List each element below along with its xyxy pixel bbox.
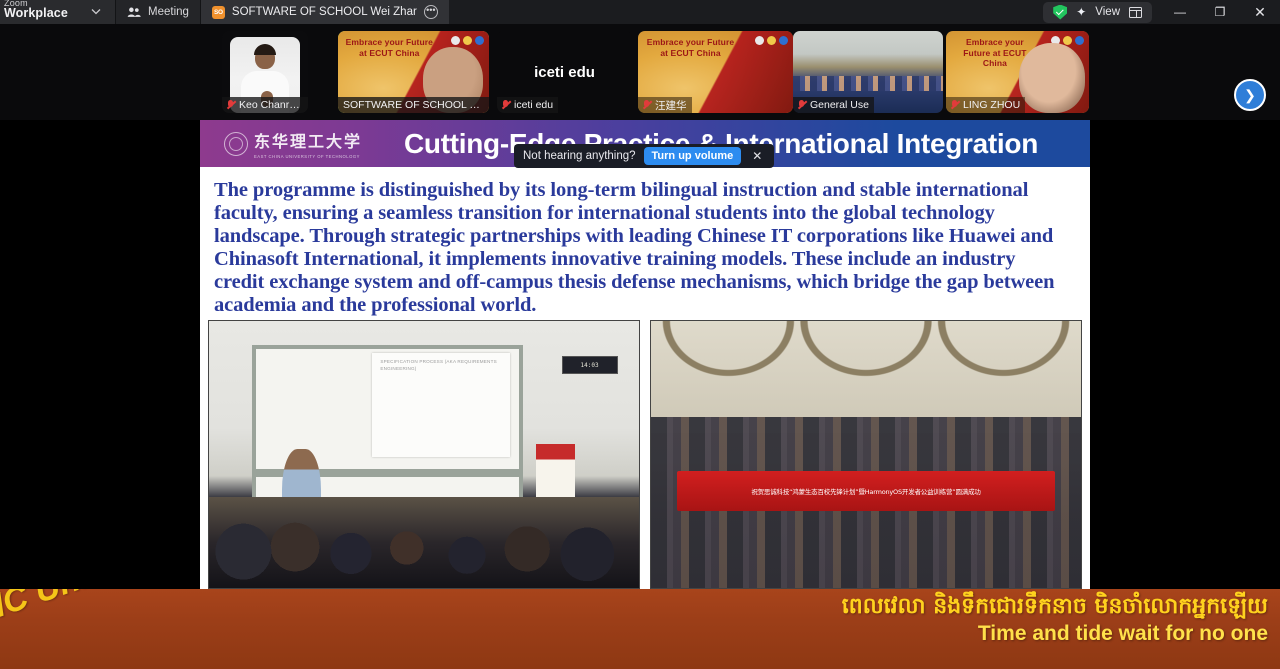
participant-name: iceti edu bbox=[514, 99, 553, 111]
tab-meeting-label: Meeting bbox=[148, 6, 189, 18]
chevron-right-icon[interactable]: ❯ bbox=[1234, 79, 1266, 111]
ecut-logos bbox=[755, 36, 788, 45]
shield-check-icon bbox=[1053, 5, 1067, 20]
window-controls-group: ✦ View — ❐ ✕ bbox=[1043, 0, 1280, 24]
audio-toast: Not hearing anything? Turn up volume ✕ bbox=[514, 144, 774, 168]
bottom-banner: IIC University ពេលវេលា និងទឹកជោរទឹកនាច ម… bbox=[0, 589, 1280, 669]
ecut-banner-text: Embrace your Future at ECUT China bbox=[644, 37, 737, 58]
participant-thumbnail[interactable]: General Use bbox=[793, 31, 943, 113]
mic-muted-icon bbox=[951, 100, 959, 111]
participant-thumbnail[interactable]: iceti edu iceti edu bbox=[497, 31, 632, 113]
participant-name-bar: General Use bbox=[793, 97, 874, 113]
participant-thumbnail[interactable]: Keo Chanrathanak bbox=[222, 31, 308, 113]
presentation-slide: 东华理工大学 EAST CHINA UNIVERSITY OF TECHNOLO… bbox=[200, 120, 1090, 589]
workspace-switcher[interactable]: Zoom Workplace bbox=[0, 0, 115, 24]
turn-up-volume-button[interactable]: Turn up volume bbox=[644, 147, 742, 165]
participant-thumbnail[interactable]: Embrace your Future at ECUT China LING Z… bbox=[946, 31, 1089, 113]
english-quote: Time and tide wait for no one bbox=[978, 622, 1268, 646]
mic-muted-icon bbox=[798, 100, 806, 111]
tab-software-of-school[interactable]: SO SOFTWARE OF SCHOOL Wei Zhar ••• bbox=[201, 0, 449, 24]
maximize-button[interactable]: ❐ bbox=[1200, 0, 1240, 24]
participant-name-bar: SOFTWARE OF SCHOOL Wei... bbox=[338, 97, 489, 113]
wall-clock: 14:03 bbox=[562, 356, 618, 375]
participant-name: 汪建华 bbox=[655, 98, 687, 113]
toast-message: Not hearing anything? bbox=[523, 150, 636, 162]
close-icon[interactable]: ✕ bbox=[749, 149, 765, 163]
sparkle-icon[interactable]: ✦ bbox=[1076, 6, 1086, 18]
chevron-down-icon[interactable] bbox=[90, 5, 102, 17]
participant-name: LING ZHOU bbox=[963, 99, 1020, 111]
people-icon bbox=[127, 6, 141, 18]
so-app-icon: SO bbox=[212, 6, 225, 19]
clock-time: 14:03 bbox=[581, 362, 599, 369]
close-button[interactable]: ✕ bbox=[1240, 0, 1280, 24]
ecut-banner-text: Embrace your Future at ECUT China bbox=[344, 37, 435, 58]
khmer-quote: ពេលវេលា និងទឹកជោរទឹកនាច មិនចាំលោកអ្នកឡើយ bbox=[842, 593, 1268, 620]
participant-name: SOFTWARE OF SCHOOL Wei... bbox=[343, 99, 484, 111]
participant-name-bar: Keo Chanrathanak bbox=[222, 97, 308, 113]
university-watermark: IIC University bbox=[0, 589, 198, 629]
participant-name-bar: 汪建华 bbox=[638, 97, 692, 113]
university-logo: 东华理工大学 EAST CHINA UNIVERSITY OF TECHNOLO… bbox=[224, 128, 362, 159]
participant-filmstrip[interactable]: Keo Chanrathanak Embrace your Future at … bbox=[0, 24, 1280, 120]
titlebar-drag-area bbox=[449, 0, 1043, 24]
slide-photo-row: SPECIFICATION PROCESS (AKA REQUIREMENTS … bbox=[208, 320, 1082, 589]
group-photo: 祝贺思诚科技“鸿蒙生态百校先锋计划”暨HarmonyOS开发者公益训练营”圆满成… bbox=[650, 320, 1082, 589]
participant-name-bar: iceti edu bbox=[497, 97, 558, 113]
layout-grid-icon[interactable] bbox=[1129, 7, 1142, 18]
shared-screen-stage: 东华理工大学 EAST CHINA UNIVERSITY OF TECHNOLO… bbox=[0, 120, 1280, 589]
mic-muted-icon bbox=[643, 100, 651, 111]
tab-meeting[interactable]: Meeting bbox=[116, 0, 200, 24]
projector-text: SPECIFICATION PROCESS (AKA REQUIREMENTS … bbox=[380, 359, 502, 372]
slide-body-text: The programme is distinguished by its lo… bbox=[200, 167, 1090, 317]
window-title-bar: Zoom Workplace Meeting SO SOFTWARE OF SC… bbox=[0, 0, 1280, 24]
view-label[interactable]: View bbox=[1095, 6, 1120, 18]
event-banner: 祝贺思诚科技“鸿蒙生态百校先锋计划”暨HarmonyOS开发者公益训练营”圆满成… bbox=[677, 471, 1055, 511]
more-options-icon[interactable]: ••• bbox=[424, 5, 438, 19]
mic-muted-icon bbox=[502, 100, 510, 111]
participant-thumbnail[interactable]: Embrace your Future at ECUT China SOFTWA… bbox=[338, 31, 489, 113]
minimize-button[interactable]: — bbox=[1160, 0, 1200, 24]
participant-display-text: iceti edu bbox=[534, 64, 595, 81]
participant-name: Keo Chanrathanak bbox=[239, 99, 303, 111]
zoom-meeting-window: Zoom Workplace Meeting SO SOFTWARE OF SC… bbox=[0, 0, 1280, 669]
meeting-status-pill[interactable]: ✦ View bbox=[1043, 2, 1152, 23]
projected-slide: SPECIFICATION PROCESS (AKA REQUIREMENTS … bbox=[372, 353, 510, 457]
tab-software-of-school-label: SOFTWARE OF SCHOOL Wei Zhar bbox=[232, 6, 417, 18]
event-banner-text: 祝贺思诚科技“鸿蒙生态百校先锋计划”暨HarmonyOS开发者公益训练营”圆满成… bbox=[751, 486, 980, 496]
participant-thumbnail[interactable]: Embrace your Future at ECUT China 汪建华 bbox=[638, 31, 793, 113]
participant-name-bar: LING ZHOU bbox=[946, 97, 1025, 113]
university-name-en: EAST CHINA UNIVERSITY OF TECHNOLOGY bbox=[254, 154, 362, 159]
classroom-lecture-photo: SPECIFICATION PROCESS (AKA REQUIREMENTS … bbox=[208, 320, 640, 589]
university-name-cn: 东华理工大学 bbox=[254, 128, 362, 152]
ecut-logos bbox=[451, 36, 484, 45]
participant-name: General Use bbox=[810, 99, 869, 111]
mic-muted-icon bbox=[227, 100, 235, 111]
university-seal-icon bbox=[224, 132, 248, 156]
